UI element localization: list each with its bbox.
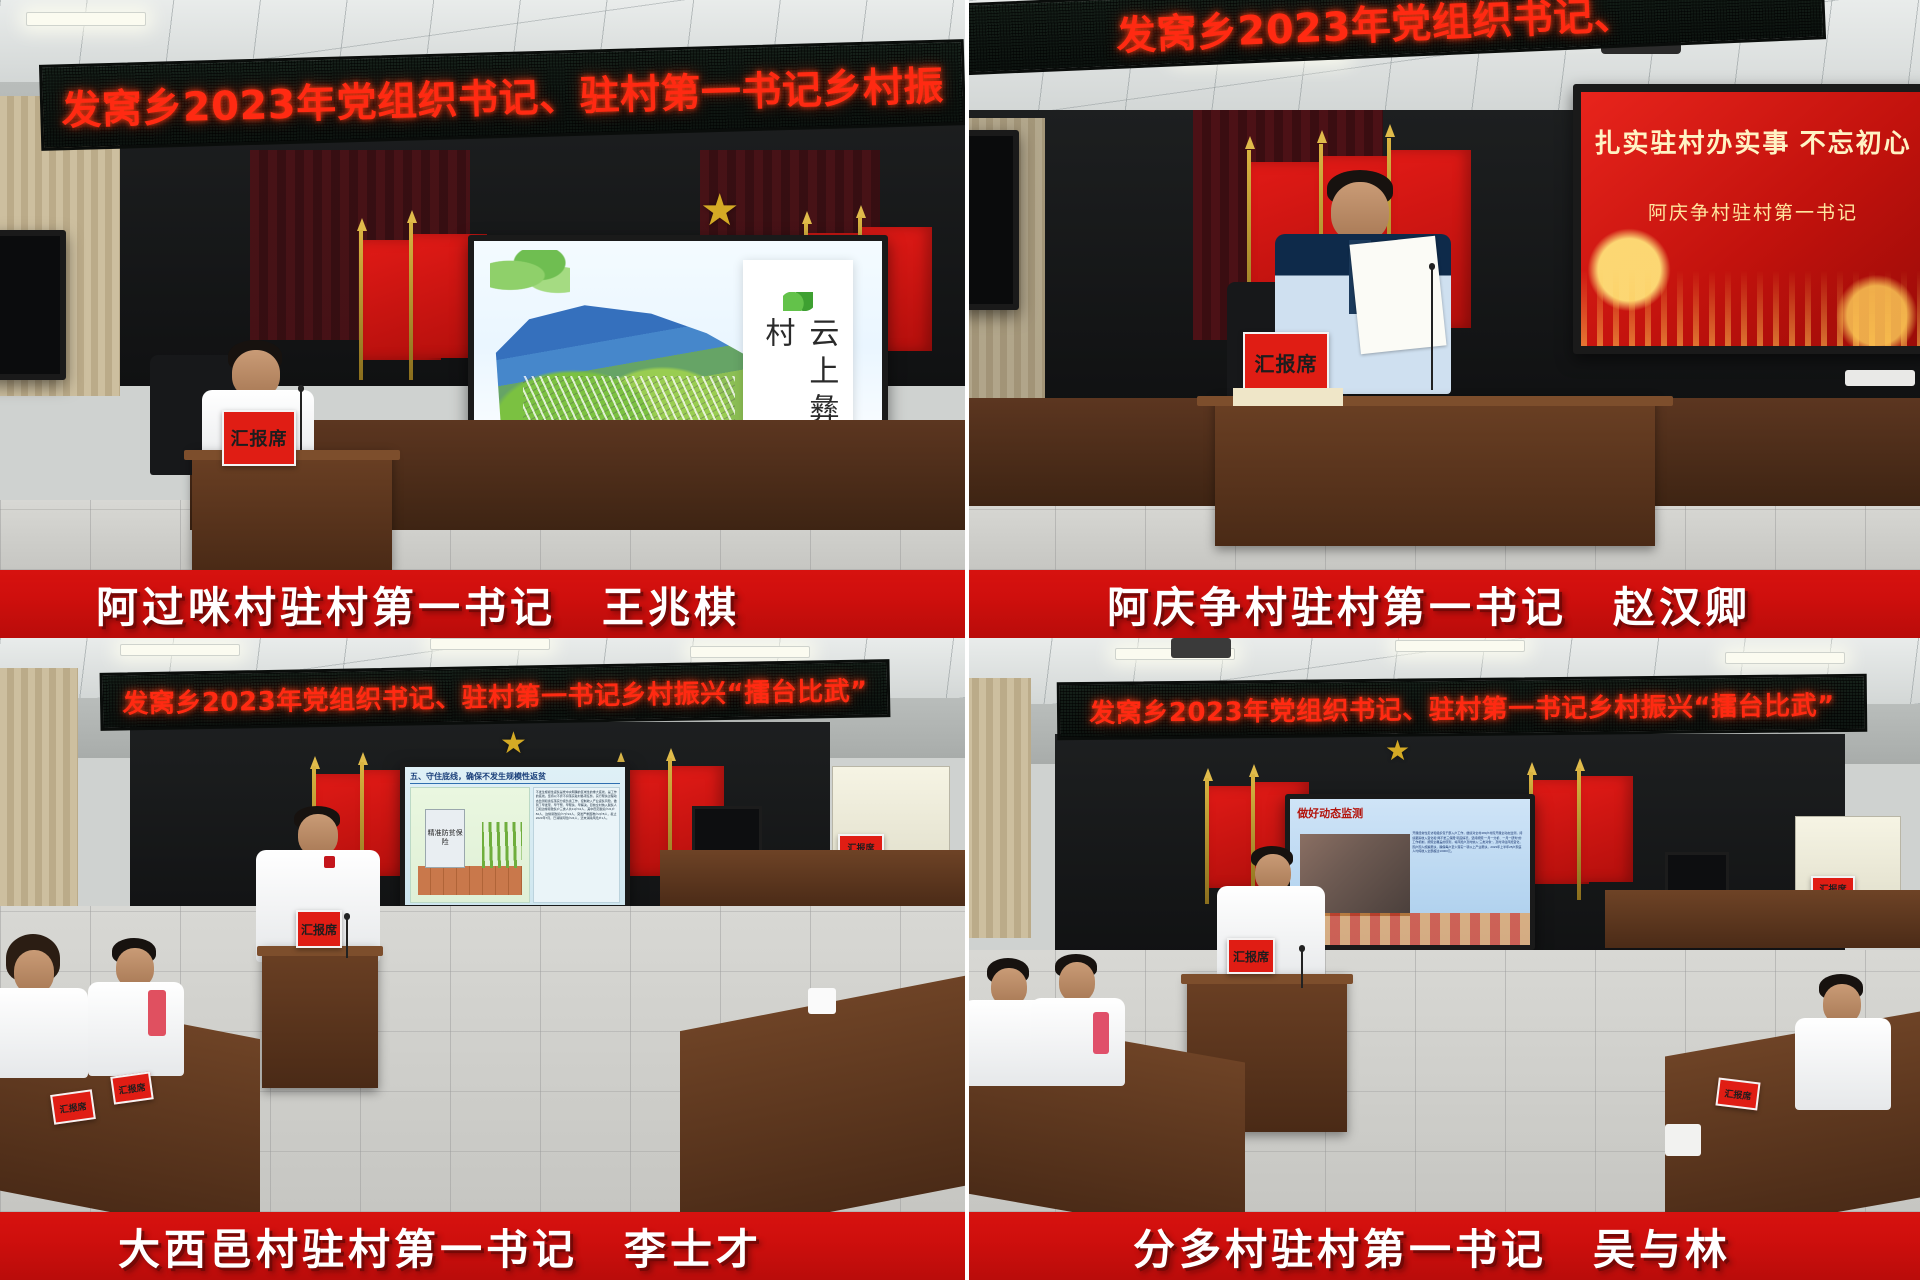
audience-person xyxy=(1793,974,1893,1102)
panel-bottom-right: 发窝乡2023年党组织书记、驻村第一书记乡村振兴“擂台比武” ★ xyxy=(965,638,1920,1280)
projector xyxy=(1171,638,1231,658)
photo-top-right: 发窝乡2023年党组织书记、 xyxy=(965,0,1920,570)
desk-plate-audience: 汇报席 xyxy=(50,1089,96,1125)
leaf-decoration-icon xyxy=(490,250,570,296)
leaf-icon xyxy=(783,292,813,310)
audience-person xyxy=(1031,954,1127,1078)
back-desk-row xyxy=(660,850,965,906)
slide-red-banner: 扎实驻村办实事 不忘初心 阿庆争村驻村第一书记 xyxy=(1581,92,1920,346)
slide-body-text: 不发生规模性返贫是党中央明确的区域性的重大底线，是工作的底线。坚持以不折不扣落实… xyxy=(533,787,620,903)
side-monitor xyxy=(965,130,1019,310)
panel-bottom-left: 发窝乡2023年党组织书记、驻村第一书记乡村振兴“擂台比武” ★ xyxy=(0,638,965,1280)
slide-illustration: 精准防贫保险 xyxy=(410,787,530,903)
city-skyline-decoration xyxy=(1581,270,1920,346)
back-desk-row xyxy=(1605,890,1920,948)
slide-title: 五、守住底线，确保不发生规模性返贫 xyxy=(410,771,620,784)
curtain-left xyxy=(0,668,78,908)
thermos-cup xyxy=(1093,1012,1109,1054)
microphone-icon xyxy=(300,390,302,450)
caption-bar-bottom-left: 大西邑村驻村第一书记 李士才 xyxy=(0,1212,965,1280)
ceiling-light xyxy=(120,644,240,656)
ceiling-light xyxy=(1395,640,1525,652)
caption-bar-top-right: 阿庆争村驻村第一书记 赵汉卿 xyxy=(965,570,1920,638)
slide-headline: 扎实驻村办实事 不忘初心 xyxy=(1594,123,1911,160)
party-emblem-icon: ★ xyxy=(1385,734,1410,767)
microphone-icon xyxy=(346,918,348,958)
caption-text: 阿过咪村驻村第一书记 王兆棋 xyxy=(0,574,740,635)
desk-plate: 汇报席 xyxy=(1227,938,1275,974)
slide-subline: 阿庆争村驻村第一书记 xyxy=(1648,198,1858,225)
torso xyxy=(0,988,88,1078)
photo-collage: 发窝乡2023年党组织书记、驻村第一书记乡村振 ★ xyxy=(0,0,1920,1280)
party-emblem-icon: ★ xyxy=(700,185,739,236)
torso xyxy=(1795,1018,1891,1110)
photo-bottom-right: 发窝乡2023年党组织书记、驻村第一书记乡村振兴“擂台比武” ★ xyxy=(965,638,1920,1212)
slide-ppt: 五、守住底线，确保不发生规模性返贫 精准防贫保险 不发生规模性返贫是党中央明确的… xyxy=(405,767,625,905)
brick-wall-illustration xyxy=(418,866,522,896)
side-monitor xyxy=(0,230,66,380)
curtain-left xyxy=(965,678,1031,938)
caption-bar-top-left: 阿过咪村驻村第一书记 王兆棋 xyxy=(0,570,965,638)
caption-bar-bottom-right: 分多村驻村第一书记 吴与林 xyxy=(965,1212,1920,1280)
presentation-screen: 扎实驻村办实事 不忘初心 阿庆争村驻村第一书记 xyxy=(1573,84,1920,354)
microphone-icon xyxy=(1431,268,1433,390)
audience-person xyxy=(0,934,84,1064)
podium xyxy=(192,450,392,570)
thermos-cup xyxy=(148,990,166,1036)
podium xyxy=(1215,396,1655,546)
ceiling-light xyxy=(690,646,810,658)
insurance-board-label: 精准防贫保险 xyxy=(425,809,465,868)
ceiling-light xyxy=(1725,652,1845,664)
side-monitor xyxy=(692,806,762,854)
wifi-router xyxy=(1845,370,1915,386)
party-badge-icon xyxy=(324,856,335,868)
podium xyxy=(262,946,378,1088)
tea-cup xyxy=(1665,1124,1701,1156)
panel-divider xyxy=(965,0,969,1280)
desk-plate: 汇报席 xyxy=(296,910,342,948)
tea-cup xyxy=(808,988,836,1014)
torso xyxy=(1031,998,1125,1086)
slide-body-text: 开展经常性走访和组织包干部入户工作，继续对全村483户村民开展全动态监测，持续跟… xyxy=(1412,831,1522,922)
photo-top-left: 发窝乡2023年党组织书记、驻村第一书记乡村振 ★ xyxy=(0,0,965,570)
slide-title: 做好动态监测 xyxy=(1297,805,1363,821)
panel-top-right: 发窝乡2023年党组织书记、 xyxy=(965,0,1920,638)
caption-text: 大西邑村驻村第一书记 李士才 xyxy=(0,1216,762,1277)
corn-field-illustration xyxy=(482,822,522,868)
desk-plate-audience: 汇报席 xyxy=(110,1071,154,1104)
head xyxy=(1331,182,1389,242)
torso xyxy=(88,982,184,1076)
book xyxy=(1233,388,1343,406)
presentation-screen: 五、守住底线，确保不发生规模性返贫 精准防贫保险 不发生规模性返贫是党中央明确的… xyxy=(400,762,630,910)
head xyxy=(1059,962,1095,1002)
panel-top-left: 发窝乡2023年党组织书记、驻村第一书记乡村振 ★ xyxy=(0,0,965,638)
caption-text: 分多村驻村第一书记 吴与林 xyxy=(965,1216,1731,1277)
microphone-icon xyxy=(1301,950,1303,988)
audience-person xyxy=(86,938,186,1068)
desk-plate: 汇报席 xyxy=(222,410,296,466)
desk-plate: 汇报席 xyxy=(1243,332,1329,392)
photo-bottom-left: 发窝乡2023年党组织书记、驻村第一书记乡村振兴“擂台比武” ★ xyxy=(0,638,965,1212)
ceiling-light xyxy=(26,12,146,26)
ceiling-light xyxy=(430,638,550,650)
led-banner: 发窝乡2023年党组织书记、驻村第一书记乡村振兴“擂台比武” xyxy=(1057,674,1868,740)
party-emblem-icon: ★ xyxy=(500,726,527,761)
desk-plate-audience: 汇报席 xyxy=(1715,1078,1760,1111)
caption-text: 阿庆争村驻村第一书记 赵汉卿 xyxy=(965,574,1751,635)
